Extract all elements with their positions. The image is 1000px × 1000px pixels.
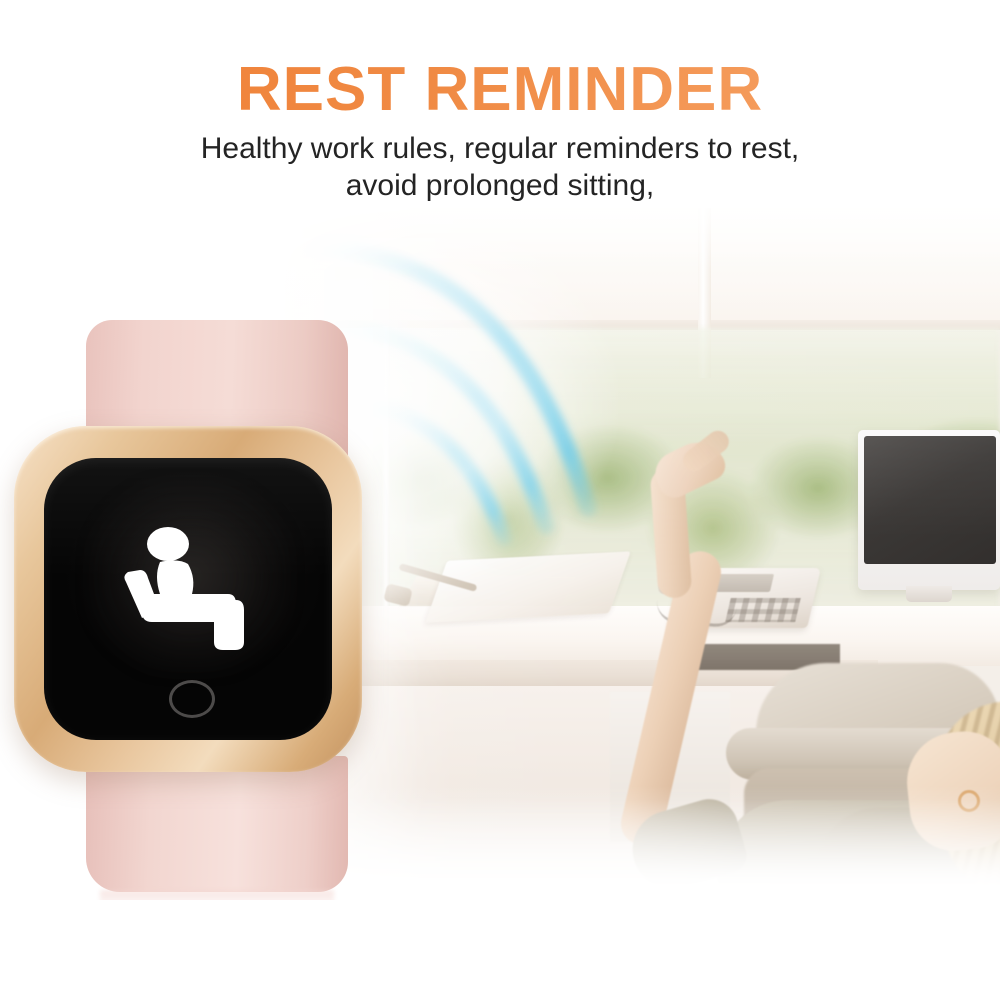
page-subtitle-line-2: avoid prolonged sitting, — [0, 168, 1000, 205]
bottom-white-margin — [0, 900, 1000, 1000]
watch-screen[interactable] — [44, 458, 332, 740]
page-title: REST REMINDER — [0, 58, 1000, 121]
page-subtitle-line-1: Healthy work rules, regular reminders to… — [0, 131, 1000, 168]
office-scene-photo — [258, 208, 1000, 896]
poster-canvas: REST REMINDER Healthy work rules, regula… — [0, 0, 1000, 1000]
watch-case — [14, 426, 362, 772]
watch-home-button[interactable] — [169, 680, 215, 718]
watch-strap-bottom — [86, 756, 348, 892]
smartwatch[interactable] — [8, 318, 368, 906]
headline-block: REST REMINDER Healthy work rules, regula… — [0, 58, 1000, 204]
sitting-person-icon — [116, 524, 266, 654]
page-subtitle: Healthy work rules, regular reminders to… — [0, 131, 1000, 204]
